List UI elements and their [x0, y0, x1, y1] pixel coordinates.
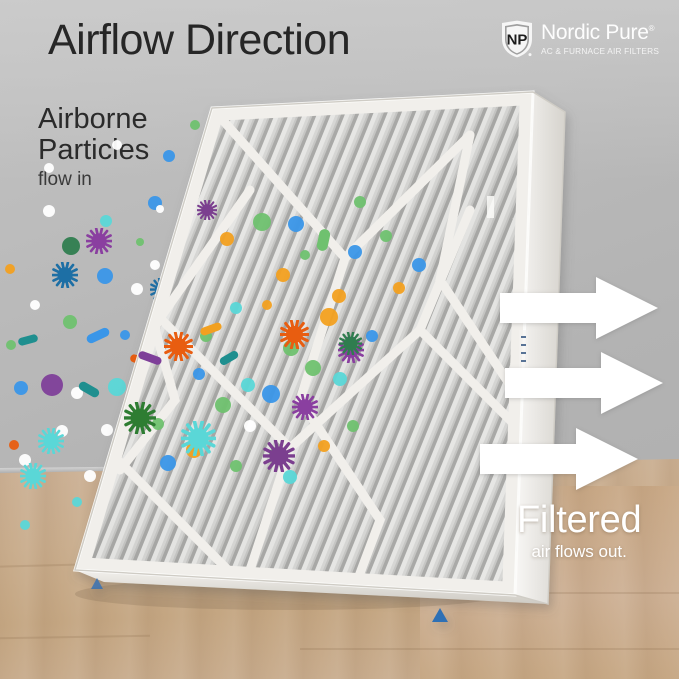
particle-dot: [332, 289, 346, 303]
particle-dot: [193, 368, 205, 380]
airflow-direction-infographic: Airflow Direction NP Nordic Pure® AC & F…: [0, 0, 679, 679]
particle-dot: [283, 470, 297, 484]
virus-particle-icon: [280, 320, 309, 349]
particle-dot: [354, 196, 366, 208]
particle-dot: [230, 302, 242, 314]
virus-particle-icon: [263, 440, 295, 472]
airflow-out-arrow: [505, 352, 665, 414]
particle-dot: [300, 250, 310, 260]
particle-dot: [288, 216, 304, 232]
particle-dot: [253, 213, 271, 231]
virus-particle-icon: [124, 402, 156, 434]
particle-dot: [160, 455, 176, 471]
particle-dot: [215, 397, 231, 413]
particle-dot: [262, 385, 280, 403]
particle-dot: [333, 372, 347, 386]
particle-dot: [276, 268, 290, 282]
filter-corner-emblem: [487, 196, 494, 218]
particle-dot: [393, 282, 405, 294]
particle-dot: [318, 440, 330, 452]
airflow-out-arrow: [500, 277, 660, 339]
particle-dot: [366, 330, 378, 342]
filter-body: [55, 80, 580, 622]
virus-particle-icon: [339, 332, 362, 355]
particle-dot: [380, 230, 392, 242]
virus-particle-icon: [164, 332, 193, 361]
particle-dot: [347, 420, 359, 432]
particle-dot: [348, 245, 362, 259]
caption-subtext: air flows out.: [517, 542, 641, 562]
airflow-out-arrow: [480, 428, 640, 490]
particle-dot: [305, 360, 321, 376]
filtered-air-caption: Filtered air flows out.: [517, 500, 641, 562]
particle-dot: [220, 232, 234, 246]
particle-dot: [244, 420, 256, 432]
virus-particle-icon: [197, 200, 217, 220]
particle-dot: [320, 308, 338, 326]
particle-dot: [241, 378, 255, 392]
virus-particle-icon: [181, 421, 216, 456]
virus-particle-icon: [292, 394, 318, 420]
particle-dot: [412, 258, 426, 272]
caption-line-1: Filtered: [517, 500, 641, 540]
particle-dot: [262, 300, 272, 310]
particle-dot: [230, 460, 242, 472]
